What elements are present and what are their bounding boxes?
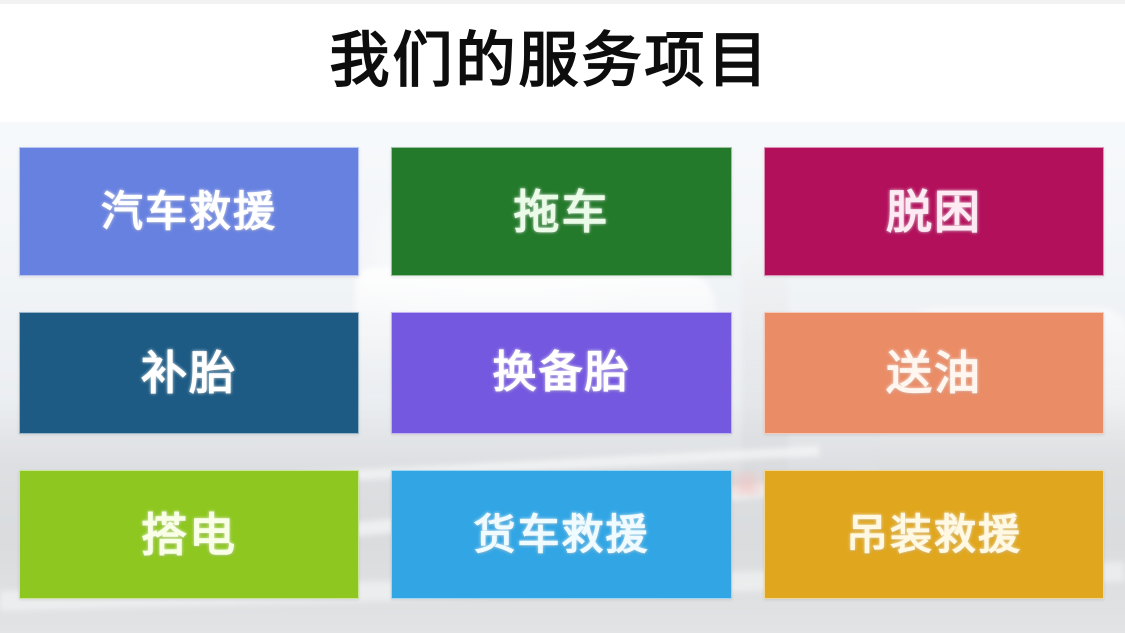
service-tile-fuel-delivery[interactable]: 送油 — [764, 312, 1104, 434]
service-tile-label: 脱困 — [886, 189, 982, 235]
service-tile-label: 汽车救援 — [101, 191, 277, 233]
service-tile-spare-tire[interactable]: 换备胎 — [391, 312, 732, 434]
header-top-rule — [0, 0, 1125, 4]
page-title: 我们的服务项目 — [0, 24, 1100, 98]
service-tile-tire-repair[interactable]: 补胎 — [19, 312, 359, 434]
service-tile-towing[interactable]: 拖车 — [391, 147, 732, 276]
service-tile-truck-rescue[interactable]: 货车救援 — [391, 470, 732, 599]
service-tile-label: 吊装救援 — [846, 514, 1022, 556]
service-tile-label: 送油 — [886, 350, 982, 396]
service-tile-label: 换备胎 — [493, 351, 631, 395]
service-tile-label: 拖车 — [514, 189, 610, 235]
service-tile-label: 货车救援 — [473, 514, 649, 556]
service-grid: 汽车救援 拖车 脱困 补胎 换备胎 送油 搭电 货车救援 吊装救援 — [19, 147, 1104, 599]
service-tile-crane-rescue[interactable]: 吊装救援 — [764, 470, 1104, 599]
service-poster: 我们的服务项目 汽车救援 拖车 脱困 补胎 换备胎 送油 搭电 货车救援 吊装救… — [0, 0, 1125, 633]
header: 我们的服务项目 — [0, 0, 1125, 122]
service-tile-extrication[interactable]: 脱困 — [764, 147, 1104, 276]
service-tile-label: 搭电 — [141, 512, 237, 558]
service-tile-label: 补胎 — [141, 350, 237, 396]
service-tile-jump-start[interactable]: 搭电 — [19, 470, 359, 599]
service-tile-car-rescue[interactable]: 汽车救援 — [19, 147, 359, 276]
